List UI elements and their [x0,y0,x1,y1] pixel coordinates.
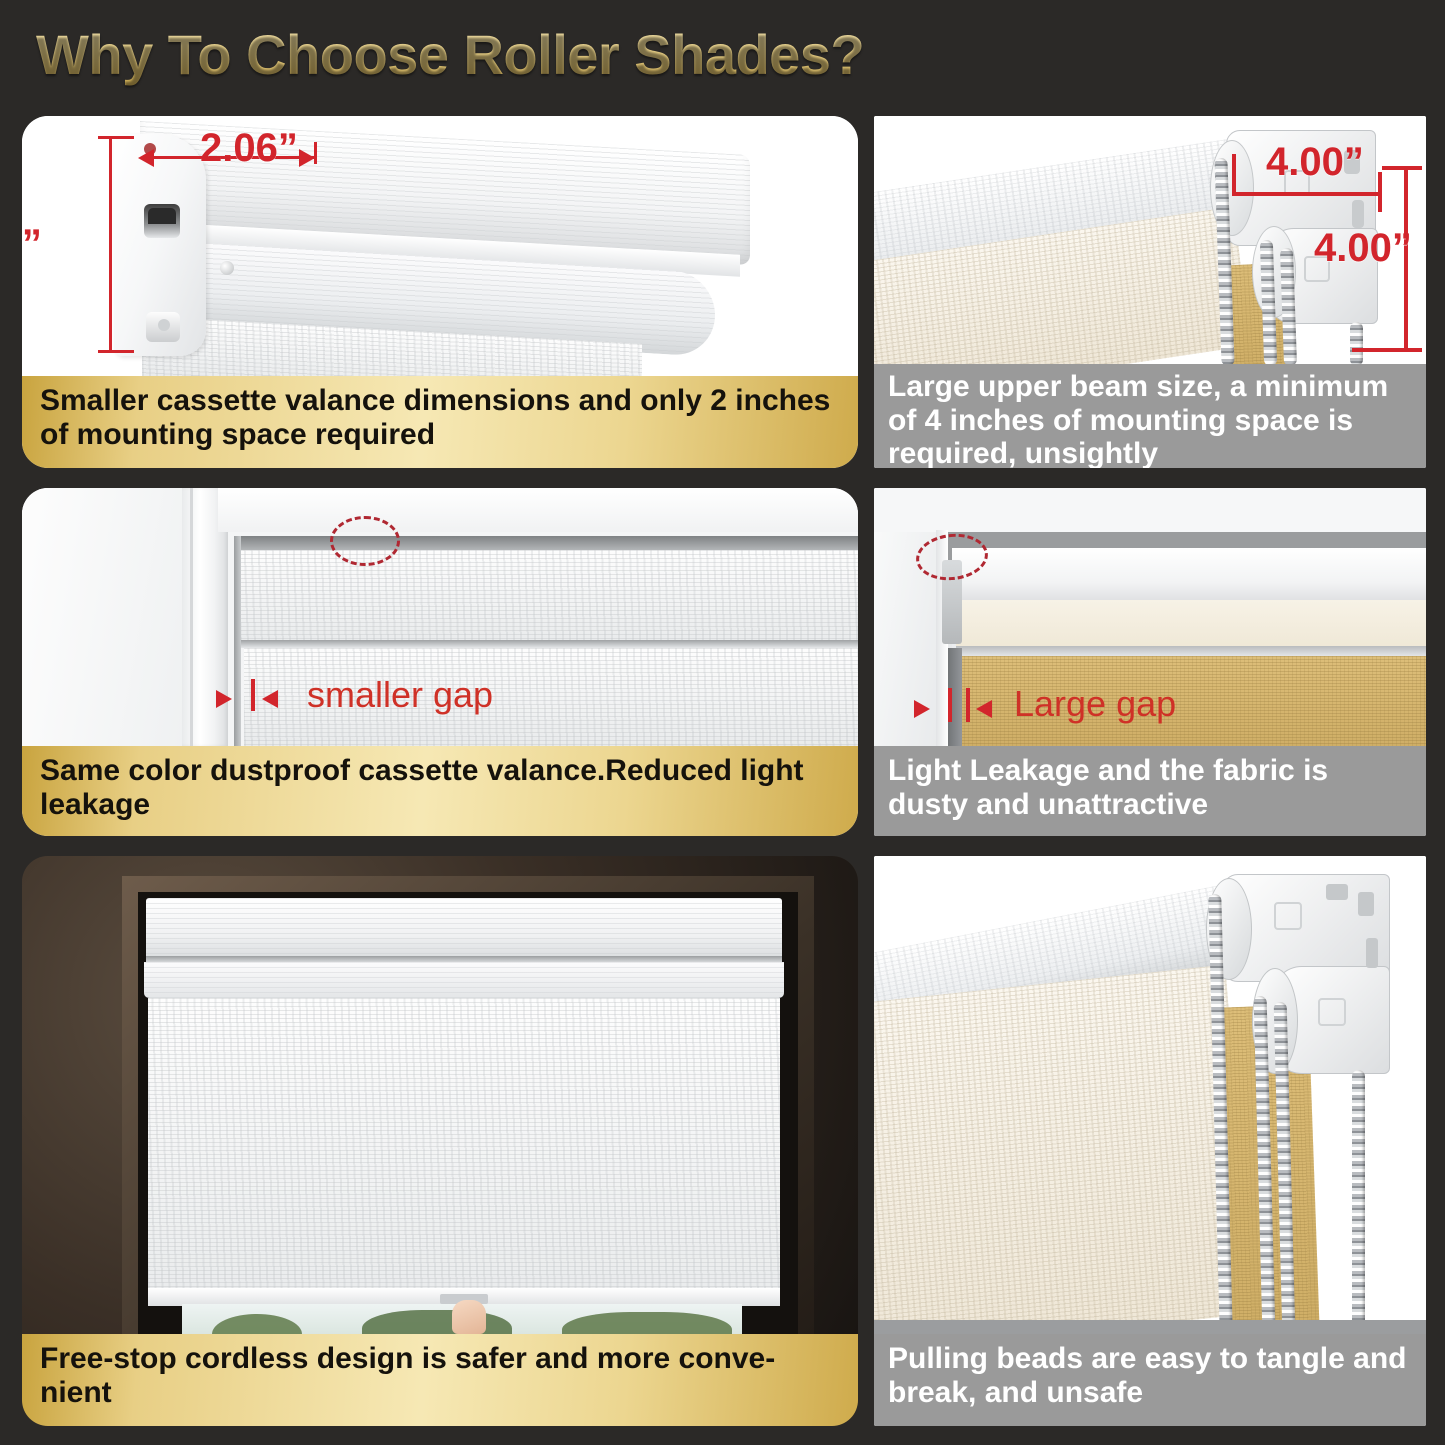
caption-line-2: nient [40,1376,840,1410]
beam-width-dimension-line [1234,192,1382,196]
roller-shade-fabric [148,998,780,1304]
panel-caption-pulling-beads: Pulling beads are easy to tangle and bre… [874,1334,1426,1426]
cordless-window-photo [22,856,858,1334]
gap-tick [251,679,255,711]
panel-pulling-beads: Pulling beads are easy to tangle and bre… [874,856,1426,1426]
panel-caption-large-upper-beam: Large upper beam size, a minimum of 4 in… [874,364,1426,468]
large-gap-arrow-right [976,700,992,718]
height-dimension-label: 5.49” [22,222,42,267]
height-dimension-line [109,138,112,352]
panel-dustproof-valance: smaller gap Same color dustproof cassett… [22,488,858,836]
beam-width-dimension-label: 4.00” [1266,140,1364,185]
infographic-page: Why To Choose Roller Shades? [0,0,1445,1445]
panel-caption-light-leakage: Light Leakage and the fabric is dusty an… [874,746,1426,836]
width-dim-tick-right [314,142,317,164]
large-beam-photo: 4.00” 4.00” [874,116,1426,366]
cassette-valance-photo: 2.06” 5.49” [22,116,858,388]
panel-light-leakage: Large gap Light Leakage and the fabric i… [874,488,1426,836]
panel-caption-dustproof-valance: Same color dustproof cassette valance.Re… [22,746,858,836]
panel-cassette-dimensions: 2.06” 5.49” Smaller cassette valance dim… [22,116,858,468]
panel-caption-cassette-dimensions: Smaller cassette valance dimensions and … [22,376,858,468]
panel-caption-cordless-design: Free-stop cordless design is safer and m… [22,1334,858,1426]
pulling-beads-photo [874,856,1426,1334]
width-dimension-arrow-right [299,149,315,167]
large-gap-arrow-left [914,700,930,718]
large-gap-tick-b [966,688,970,722]
bead-chain [1350,322,1363,366]
beige-fabric [874,965,1253,1334]
page-title: Why To Choose Roller Shades? [36,22,864,87]
beam-height-dimension-label: 4.00” [1314,226,1412,271]
panel-large-upper-beam: 4.00” 4.00” Large upper beam size, a min… [874,116,1426,468]
height-dim-tick-bottom [98,350,134,353]
light-leakage-photo: Large gap [874,488,1426,746]
caption-line-1: Free-stop cordless design is safer and m… [40,1342,840,1376]
bead-chain [1352,1070,1365,1334]
beam-width-tick-left [1232,154,1236,196]
smaller-gap-label: smaller gap [307,674,493,716]
gap-arrow-left [216,690,232,708]
height-dim-tick-top [98,136,134,139]
hand-pulling-shade [452,1300,486,1334]
beam-width-tick-right [1378,172,1382,212]
width-dimension-label: 2.06” [200,126,298,171]
gap-highlight-circle [330,516,400,566]
dustproof-valance-photo: smaller gap [22,488,858,746]
panel-cordless-design: Free-stop cordless design is safer and m… [22,856,858,1426]
large-gap-tick-a [948,688,952,722]
beam-height-tick-bottom [1352,348,1422,352]
gap-arrow-right [262,690,278,708]
width-dimension-arrow-left [138,149,154,167]
large-gap-label: Large gap [1014,683,1176,725]
beam-height-tick-top [1382,166,1422,170]
